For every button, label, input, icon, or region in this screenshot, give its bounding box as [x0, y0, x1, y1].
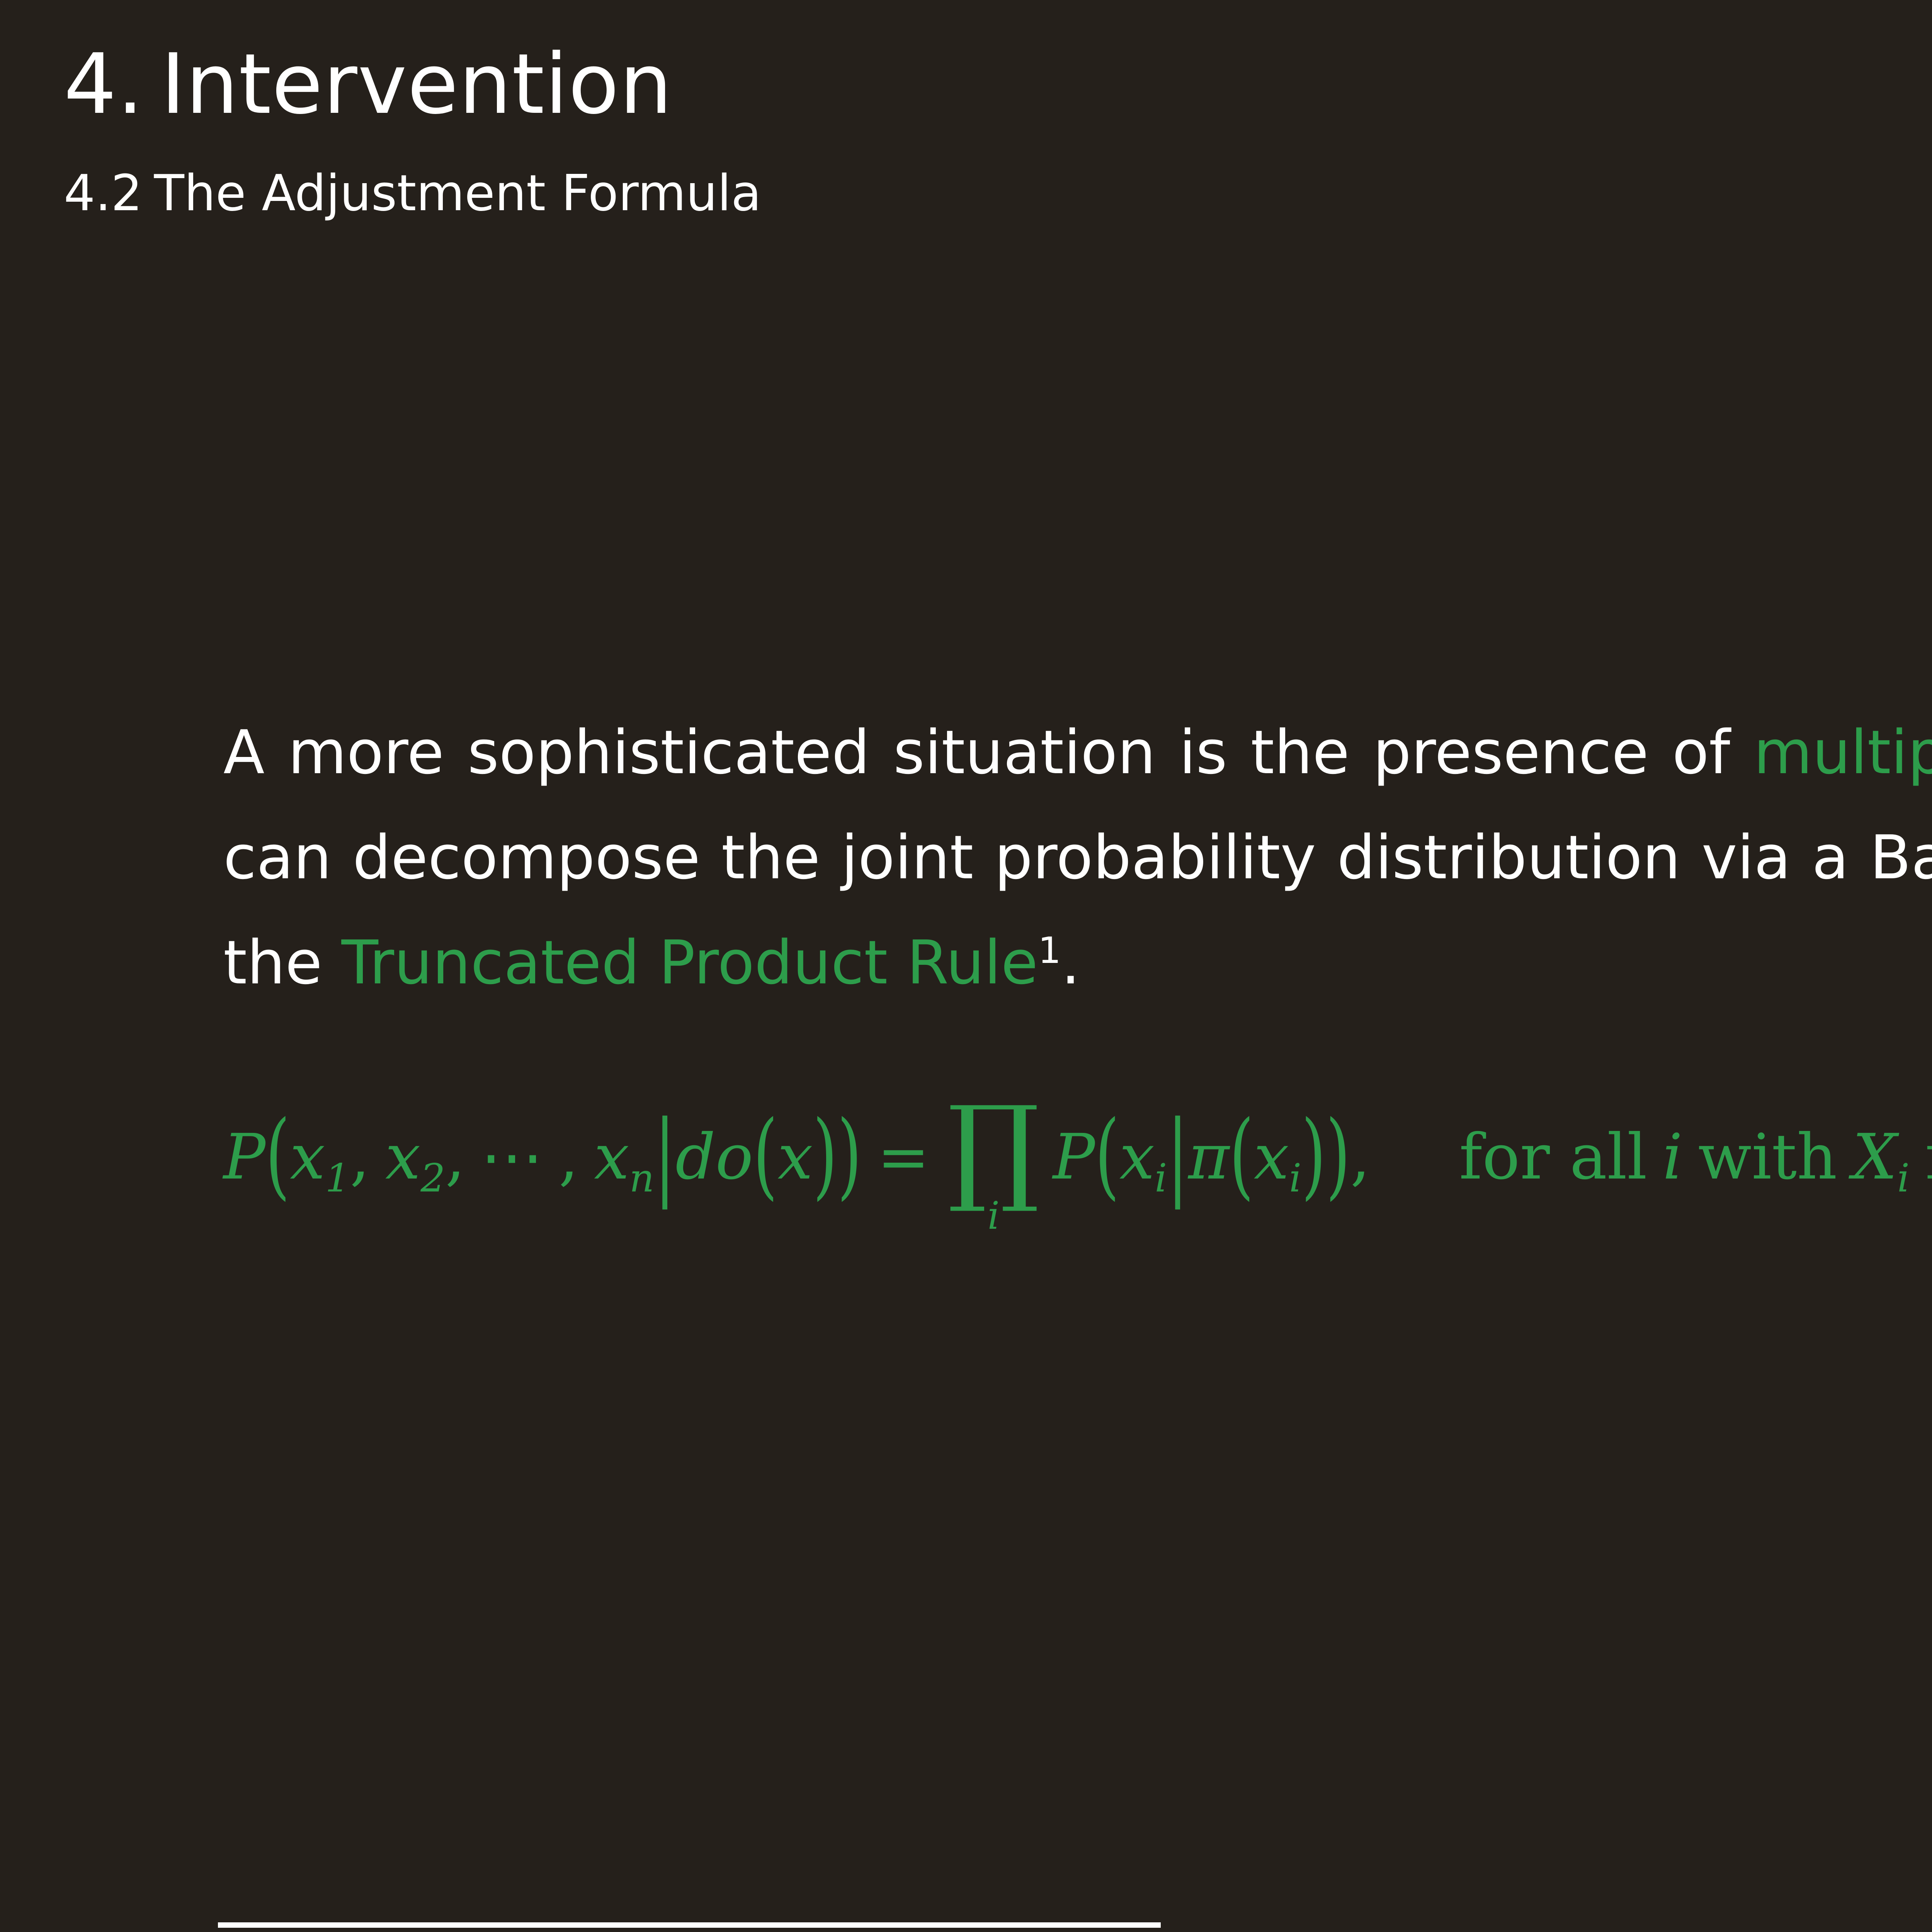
eq-lhs-x: x: [777, 1121, 813, 1194]
section-title: Intervention: [161, 36, 672, 133]
eq-lhs-dots: ⋯: [481, 1121, 543, 1194]
presentation-slide: 4.Intervention 4.2The Adjustment Formula…: [0, 0, 1932, 1932]
product-symbol: ∏: [947, 1104, 1040, 1194]
eq-rhs-xi: xi: [1119, 1121, 1167, 1194]
body-text-1: A more sophisticated situation is the pr…: [223, 717, 1753, 787]
eq-condition-for-all: for all: [1459, 1121, 1647, 1194]
eq-lhs-comma-3: ,: [559, 1121, 579, 1194]
eq-lhs-xn: xn: [594, 1121, 654, 1194]
product-index: i: [988, 1197, 1000, 1235]
eq-lhs-close-paren-2: ): [813, 1101, 837, 1210]
body-text-3: .: [1061, 927, 1080, 998]
eq-rhs-bar: |: [1167, 1101, 1188, 1210]
page-subtitle: 4.2The Adjustment Formula: [64, 169, 1932, 218]
eq-lhs-P: P: [223, 1121, 265, 1194]
subsection-title: The Adjustment Formula: [154, 165, 762, 222]
eq-lhs-close-paren: ): [837, 1101, 862, 1210]
eq-rhs-comma: ,: [1350, 1121, 1371, 1194]
eq-condition-Xi: Xi: [1852, 1121, 1909, 1194]
slide-header: 4.Intervention 4.2The Adjustment Formula: [64, 43, 1932, 218]
body-paragraph: A more sophisticated situation is the pr…: [223, 700, 1932, 1015]
highlight-multiple-interventions: multiple interventions: [1753, 717, 1932, 787]
eq-rhs-close-paren-2: ): [1301, 1101, 1326, 1210]
eq-rhs-open-paren: (: [1095, 1101, 1119, 1210]
eq-rhs-pi: π: [1188, 1121, 1229, 1194]
page-title: 4.Intervention: [64, 43, 1932, 126]
truncated-product-rule-equation: P(x1,x2,⋯,xn|do(x)) = ∏ i P(xi|π(xi)), f…: [223, 1094, 1932, 1225]
highlight-truncated-product-rule: Truncated Product Rule: [342, 927, 1038, 998]
eq-lhs-bar: |: [654, 1101, 675, 1210]
eq-lhs-comma-2: ,: [445, 1121, 465, 1194]
eq-condition-i: i: [1663, 1121, 1683, 1194]
footnote-divider: [218, 1922, 1161, 1928]
eq-lhs-do: do: [675, 1121, 753, 1194]
eq-condition-with: with: [1698, 1121, 1837, 1194]
eq-rhs-close-paren: ): [1326, 1101, 1350, 1210]
eq-lhs-open-paren-2: (: [753, 1101, 777, 1210]
subsection-number: 4.2: [64, 165, 143, 222]
eq-lhs-x2: x2: [385, 1121, 445, 1194]
eq-equals-sign: =: [877, 1121, 930, 1194]
eq-lhs-open-paren: (: [265, 1101, 290, 1210]
eq-condition-not-in: not in: [1925, 1121, 1932, 1194]
eq-rhs-P: P: [1053, 1121, 1095, 1194]
eq-product-operator: ∏ i: [947, 1104, 1040, 1235]
footnote-reference[interactable]: 1: [1038, 930, 1061, 972]
eq-rhs-xi-2: xi: [1254, 1121, 1302, 1194]
eq-lhs-x1: x1: [290, 1121, 350, 1194]
eq-lhs-comma-1: ,: [350, 1121, 370, 1194]
eq-rhs-open-paren-2: (: [1229, 1101, 1253, 1210]
section-number: 4.: [64, 36, 144, 133]
